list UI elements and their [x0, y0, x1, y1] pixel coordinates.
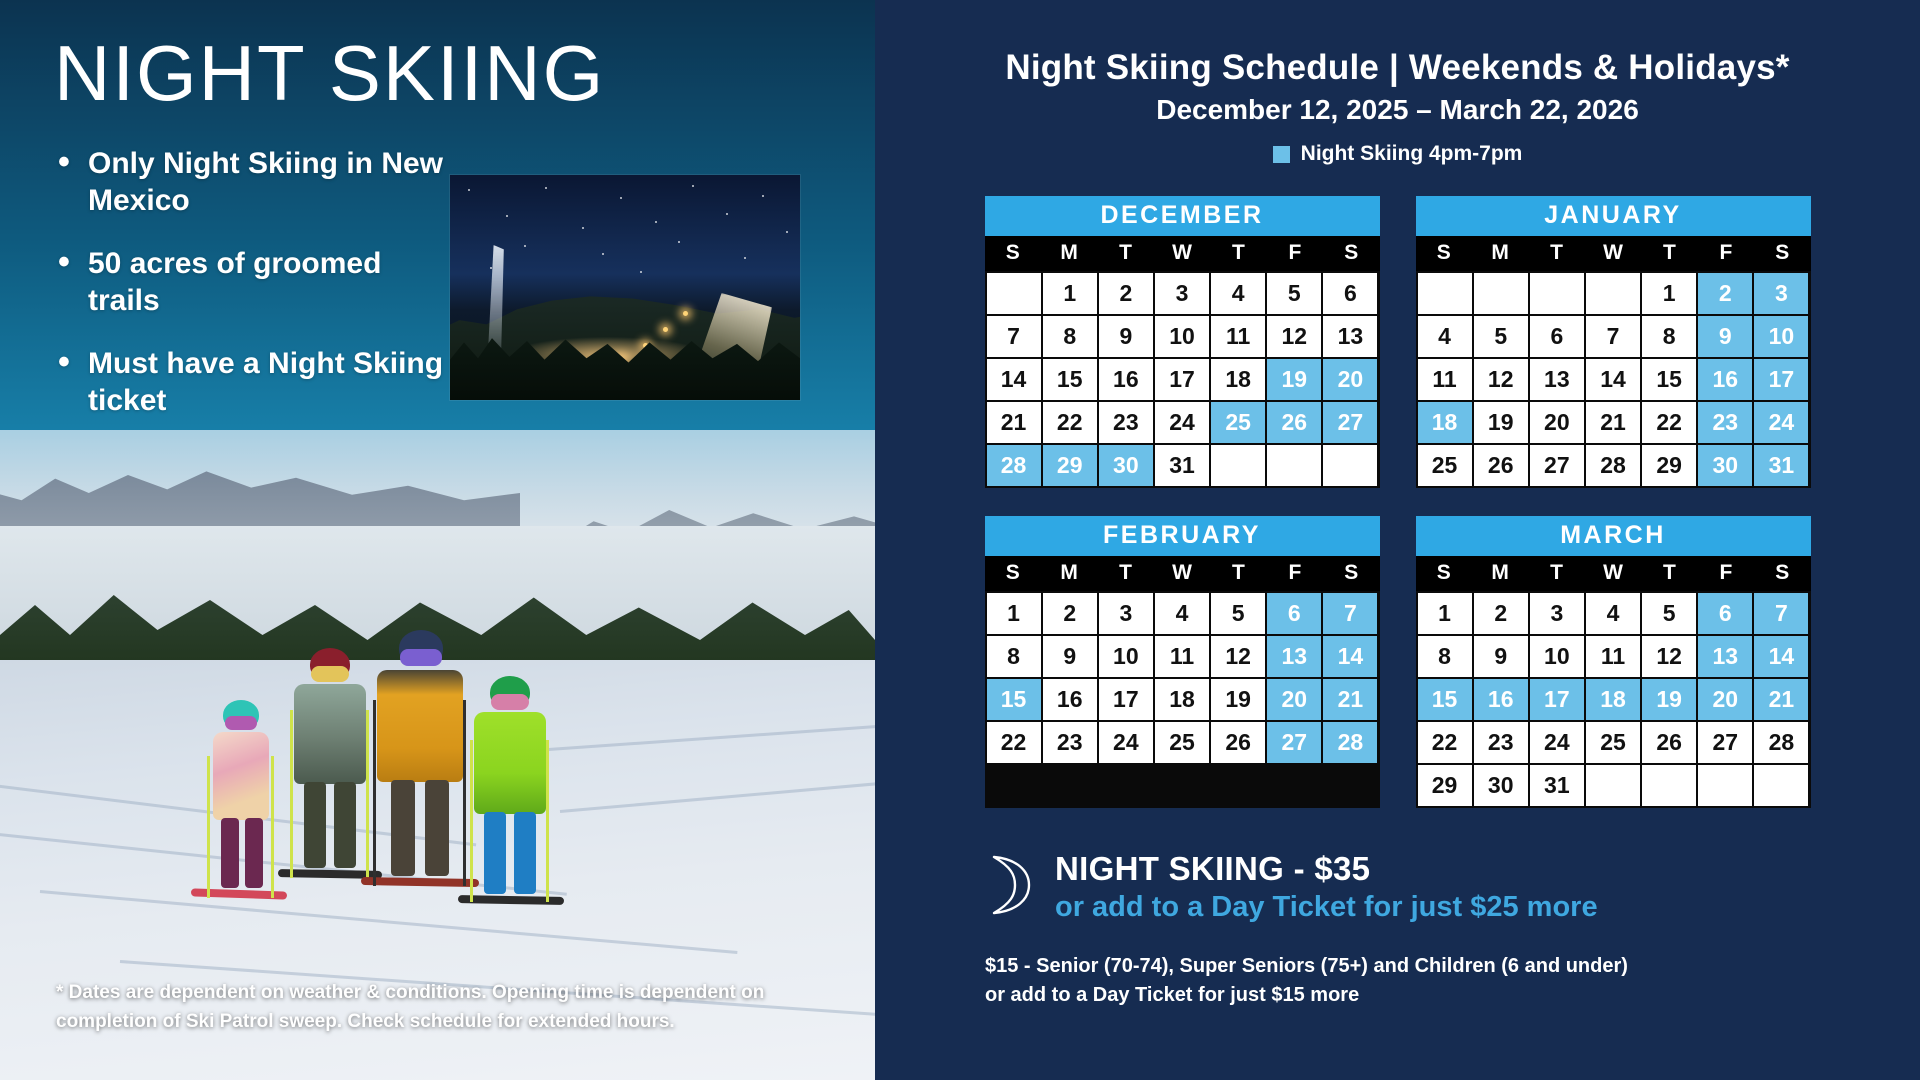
skier-adult-green [290, 648, 370, 898]
calendar-day-highlighted[interactable]: 23 [1698, 402, 1752, 443]
weekday-label: S [1323, 236, 1379, 271]
calendar-day[interactable]: 1 [1043, 273, 1097, 314]
calendar-day[interactable]: 27 [1698, 722, 1752, 763]
calendar-day[interactable]: 5 [1267, 273, 1321, 314]
calendar-day[interactable]: 3 [1155, 273, 1209, 314]
pricing-fineprint: $15 - Senior (70-74), Super Seniors (75+… [985, 952, 1872, 1010]
weekday-label: T [1210, 236, 1266, 271]
calendar-day[interactable]: 5 [1211, 593, 1265, 634]
calendar-day-highlighted[interactable]: 20 [1698, 679, 1752, 720]
calendar-weekday-header: SMTWTFS [1416, 556, 1811, 591]
calendar-day-highlighted[interactable]: 18 [1586, 679, 1640, 720]
weekday-label: S [1754, 556, 1810, 591]
calendar-day[interactable]: 12 [1211, 636, 1265, 677]
calendar-day[interactable]: 11 [1586, 636, 1640, 677]
calendar-day-highlighted[interactable]: 7 [1754, 593, 1808, 634]
calendar-empty-cell [1530, 273, 1584, 314]
calendar-day-highlighted[interactable]: 16 [1698, 359, 1752, 400]
calendar-day-highlighted[interactable]: 27 [1323, 402, 1377, 443]
price-addon-label: or add to a Day Ticket for just $25 more [1055, 891, 1598, 924]
weekday-label: S [1416, 236, 1472, 271]
calendar-day[interactable]: 12 [1642, 636, 1696, 677]
calendar-day[interactable]: 31 [1530, 765, 1584, 806]
calendar-day[interactable]: 7 [1586, 316, 1640, 357]
calendar-day[interactable]: 15 [1043, 359, 1097, 400]
calendar-day[interactable]: 29 [1418, 765, 1472, 806]
calendar-day[interactable]: 31 [1155, 445, 1209, 486]
calendar-day-highlighted[interactable]: 10 [1754, 316, 1808, 357]
calendar-day-highlighted[interactable]: 28 [1323, 722, 1377, 763]
calendar-day[interactable]: 16 [1043, 679, 1097, 720]
weekday-label: W [1154, 556, 1210, 591]
calendar-grid: DECEMBERSMTWTFS1234567891011121314151617… [923, 196, 1872, 808]
calendar-day[interactable]: 18 [1155, 679, 1209, 720]
calendar-day[interactable]: 10 [1530, 636, 1584, 677]
calendar-day[interactable]: 19 [1211, 679, 1265, 720]
far-mountain-range [0, 448, 520, 538]
calendar-empty-cell [1267, 445, 1321, 486]
weekday-label: T [1097, 236, 1153, 271]
calendar-day-highlighted[interactable]: 17 [1530, 679, 1584, 720]
calendar-day[interactable]: 13 [1530, 359, 1584, 400]
calendar-day[interactable]: 5 [1642, 593, 1696, 634]
calendar-day[interactable]: 6 [1323, 273, 1377, 314]
calendar-day[interactable]: 4 [1418, 316, 1472, 357]
weekday-label: T [1210, 556, 1266, 591]
calendar-day[interactable]: 22 [1418, 722, 1472, 763]
calendar-day[interactable]: 8 [1043, 316, 1097, 357]
calendar-day[interactable]: 12 [1267, 316, 1321, 357]
skier-child-right [470, 676, 550, 908]
calendar-day-highlighted[interactable]: 20 [1323, 359, 1377, 400]
calendar-day[interactable]: 23 [1474, 722, 1528, 763]
calendar-day[interactable]: 8 [1642, 316, 1696, 357]
weekday-label: W [1585, 236, 1641, 271]
page-title: NIGHT SKIING [54, 34, 875, 112]
legend-swatch-icon [1273, 146, 1290, 163]
calendar-empty-cell [1211, 445, 1265, 486]
calendar-day[interactable]: 14 [987, 359, 1041, 400]
calendar-day-highlighted[interactable]: 27 [1267, 722, 1321, 763]
calendar-month-header: MARCH [1416, 516, 1811, 556]
weekday-label: W [1585, 556, 1641, 591]
calendar-day-highlighted[interactable]: 14 [1323, 636, 1377, 677]
calendar-day[interactable]: 9 [1474, 636, 1528, 677]
calendar-day[interactable]: 4 [1211, 273, 1265, 314]
weekday-label: F [1267, 556, 1323, 591]
calendar-day-highlighted[interactable]: 9 [1698, 316, 1752, 357]
calendar-weekday-header: SMTWTFS [1416, 236, 1811, 271]
calendar-day[interactable]: 2 [1474, 593, 1528, 634]
calendar-day-highlighted[interactable]: 20 [1267, 679, 1321, 720]
calendar-day-highlighted[interactable]: 6 [1267, 593, 1321, 634]
price-main-label: NIGHT SKIING - $35 [1055, 850, 1598, 888]
calendar-day[interactable]: 21 [987, 402, 1041, 443]
calendar-day[interactable]: 20 [1530, 402, 1584, 443]
calendar-day[interactable]: 8 [987, 636, 1041, 677]
skier-child-left [205, 700, 275, 905]
calendar-january: JANUARYSMTWTFS12345678910111213141516171… [1416, 196, 1811, 488]
calendar-empty-cell [1586, 273, 1640, 314]
night-mountain-inset-photo [450, 175, 800, 400]
calendar-day[interactable]: 18 [1211, 359, 1265, 400]
pricing-block: NIGHT SKIING - $35 or add to a Day Ticke… [981, 850, 1872, 924]
calendar-day-highlighted[interactable]: 15 [1418, 679, 1472, 720]
calendar-weekday-header: SMTWTFS [985, 556, 1380, 591]
calendar-day-highlighted[interactable]: 31 [1754, 445, 1808, 486]
calendar-day-highlighted[interactable]: 16 [1474, 679, 1528, 720]
calendar-day[interactable]: 17 [1155, 359, 1209, 400]
schedule-date-range: December 12, 2025 – March 22, 2026 [923, 94, 1872, 126]
calendar-day[interactable]: 11 [1155, 636, 1209, 677]
calendar-empty-cell [1642, 765, 1696, 806]
weekday-label: T [1641, 556, 1697, 591]
calendar-day[interactable]: 11 [1418, 359, 1472, 400]
feature-bullet-list: Only Night Skiing in New Mexico 50 acres… [54, 146, 444, 420]
calendar-empty-cell [987, 273, 1041, 314]
calendar-day[interactable]: 4 [1586, 593, 1640, 634]
calendar-day[interactable]: 6 [1530, 316, 1584, 357]
calendar-day[interactable]: 28 [1586, 445, 1640, 486]
calendar-day[interactable]: 23 [1099, 402, 1153, 443]
calendar-day-highlighted[interactable]: 2 [1698, 273, 1752, 314]
weekday-label: F [1267, 236, 1323, 271]
calendar-day[interactable]: 8 [1418, 636, 1472, 677]
weekday-label: T [1641, 236, 1697, 271]
calendar-day-highlighted[interactable]: 29 [1043, 445, 1097, 486]
calendar-day[interactable]: 1 [1642, 273, 1696, 314]
weekday-label: T [1528, 556, 1584, 591]
calendar-day-highlighted[interactable]: 26 [1267, 402, 1321, 443]
calendar-day[interactable]: 25 [1155, 722, 1209, 763]
pricing-text: NIGHT SKIING - $35 or add to a Day Ticke… [1055, 850, 1598, 924]
legend-label: Night Skiing 4pm-7pm [1301, 142, 1523, 166]
weekday-label: M [1041, 556, 1097, 591]
calendar-day[interactable]: 9 [1099, 316, 1153, 357]
calendar-day-highlighted[interactable]: 13 [1698, 636, 1752, 677]
calendar-day-highlighted[interactable]: 25 [1211, 402, 1265, 443]
calendar-month-header: DECEMBER [985, 196, 1380, 236]
weekday-label: M [1472, 556, 1528, 591]
weekday-label: M [1041, 236, 1097, 271]
calendar-day[interactable]: 4 [1155, 593, 1209, 634]
calendar-day[interactable]: 24 [1530, 722, 1584, 763]
calendar-day-highlighted[interactable]: 24 [1754, 402, 1808, 443]
weekday-label: S [1323, 556, 1379, 591]
weekday-label: M [1472, 236, 1528, 271]
calendar-day[interactable]: 14 [1586, 359, 1640, 400]
calendar-day[interactable]: 1 [987, 593, 1041, 634]
calendar-month-header: FEBRUARY [985, 516, 1380, 556]
crescent-moon-icon [981, 853, 1033, 922]
calendar-day[interactable]: 3 [1099, 593, 1153, 634]
calendar-day[interactable]: 2 [1099, 273, 1153, 314]
calendar-march: MARCHSMTWTFS1234567891011121314151617181… [1416, 516, 1811, 808]
weekday-label: F [1698, 236, 1754, 271]
calendar-day[interactable]: 22 [987, 722, 1041, 763]
calendar-days: 1234567891011121314151617181920212223242… [1416, 591, 1811, 808]
calendar-day-highlighted[interactable]: 21 [1754, 679, 1808, 720]
calendar-empty-cell [1698, 765, 1752, 806]
weekday-label: S [985, 236, 1041, 271]
calendar-day[interactable]: 2 [1043, 593, 1097, 634]
calendar-days: 1234567891011121314151617181920212223242… [985, 591, 1380, 765]
calendar-days: 1234567891011121314151617181920212223242… [1416, 271, 1811, 488]
calendar-day[interactable]: 26 [1474, 445, 1528, 486]
schedule-panel: Night Skiing Schedule | Weekends & Holid… [875, 0, 1920, 1080]
calendar-day[interactable]: 26 [1642, 722, 1696, 763]
weekday-label: T [1528, 236, 1584, 271]
disclaimer-footnote: * Dates are dependent on weather & condi… [56, 979, 826, 1036]
calendar-february: FEBRUARYSMTWTFS1234567891011121314151617… [985, 516, 1380, 808]
calendar-day[interactable]: 24 [1155, 402, 1209, 443]
calendar-day[interactable]: 22 [1043, 402, 1097, 443]
calendar-weekday-header: SMTWTFS [985, 236, 1380, 271]
weekday-label: T [1097, 556, 1153, 591]
bullet-item: Only Night Skiing in New Mexico [54, 146, 444, 219]
calendar-day-highlighted[interactable]: 3 [1754, 273, 1808, 314]
schedule-title: Night Skiing Schedule | Weekends & Holid… [923, 48, 1872, 88]
weekday-label: S [1416, 556, 1472, 591]
calendar-day[interactable]: 23 [1043, 722, 1097, 763]
calendar-day[interactable]: 25 [1586, 722, 1640, 763]
calendar-day[interactable]: 13 [1323, 316, 1377, 357]
skier-adult-yellow [375, 630, 467, 902]
calendar-day[interactable]: 24 [1099, 722, 1153, 763]
calendar-day[interactable]: 12 [1474, 359, 1528, 400]
calendar-days: 1234567891011121314151617181920212223242… [985, 271, 1380, 488]
calendar-day[interactable]: 10 [1155, 316, 1209, 357]
calendar-day[interactable]: 15 [1642, 359, 1696, 400]
calendar-day[interactable]: 9 [1043, 636, 1097, 677]
weekday-label: S [1754, 236, 1810, 271]
calendar-day[interactable]: 5 [1474, 316, 1528, 357]
calendar-day-highlighted[interactable]: 17 [1754, 359, 1808, 400]
calendar-day-highlighted[interactable]: 18 [1418, 402, 1472, 443]
weekday-label: W [1154, 236, 1210, 271]
calendar-month-header: JANUARY [1416, 196, 1811, 236]
calendar-empty-cell [1323, 445, 1377, 486]
calendar-day[interactable]: 3 [1530, 593, 1584, 634]
calendar-day[interactable]: 21 [1586, 402, 1640, 443]
calendar-empty-cell [1586, 765, 1640, 806]
calendar-day-highlighted[interactable]: 30 [1099, 445, 1153, 486]
calendar-day-highlighted[interactable]: 19 [1267, 359, 1321, 400]
calendar-day[interactable]: 17 [1099, 679, 1153, 720]
calendar-day-highlighted[interactable]: 30 [1698, 445, 1752, 486]
calendar-day-highlighted[interactable]: 19 [1642, 679, 1696, 720]
bullet-item: Must have a Night Skiing ticket [54, 346, 444, 419]
calendar-day[interactable]: 19 [1474, 402, 1528, 443]
calendar-day[interactable]: 16 [1099, 359, 1153, 400]
calendar-day[interactable]: 10 [1099, 636, 1153, 677]
calendar-day[interactable]: 26 [1211, 722, 1265, 763]
calendar-empty-cell [1418, 273, 1472, 314]
bullet-item: 50 acres of groomed trails [54, 246, 444, 319]
calendar-day[interactable]: 30 [1474, 765, 1528, 806]
calendar-day-highlighted[interactable]: 14 [1754, 636, 1808, 677]
calendar-day[interactable]: 27 [1530, 445, 1584, 486]
fineprint-line-2: or add to a Day Ticket for just $15 more [985, 981, 1872, 1010]
calendar-day-highlighted[interactable]: 6 [1698, 593, 1752, 634]
calendar-day-highlighted[interactable]: 15 [987, 679, 1041, 720]
calendar-day[interactable]: 11 [1211, 316, 1265, 357]
weekday-label: S [985, 556, 1041, 591]
weekday-label: F [1698, 556, 1754, 591]
calendar-day[interactable]: 7 [987, 316, 1041, 357]
calendar-empty-cell [1754, 765, 1808, 806]
calendar-day-highlighted[interactable]: 21 [1323, 679, 1377, 720]
calendar-day[interactable]: 29 [1642, 445, 1696, 486]
calendar-day[interactable]: 1 [1418, 593, 1472, 634]
legend: Night Skiing 4pm-7pm [923, 142, 1872, 166]
calendar-day[interactable]: 22 [1642, 402, 1696, 443]
calendar-day-highlighted[interactable]: 13 [1267, 636, 1321, 677]
left-hero-panel: NIGHT SKIING Only Night Skiing in New Me… [0, 0, 875, 1080]
calendar-december: DECEMBERSMTWTFS1234567891011121314151617… [985, 196, 1380, 488]
fineprint-line-1: $15 - Senior (70-74), Super Seniors (75+… [985, 952, 1872, 981]
calendar-day[interactable]: 28 [1754, 722, 1808, 763]
calendar-empty-cell [1474, 273, 1528, 314]
calendar-day[interactable]: 25 [1418, 445, 1472, 486]
calendar-day-highlighted[interactable]: 7 [1323, 593, 1377, 634]
night-skiing-poster: NIGHT SKIING Only Night Skiing in New Me… [0, 0, 1920, 1080]
calendar-day-highlighted[interactable]: 28 [987, 445, 1041, 486]
